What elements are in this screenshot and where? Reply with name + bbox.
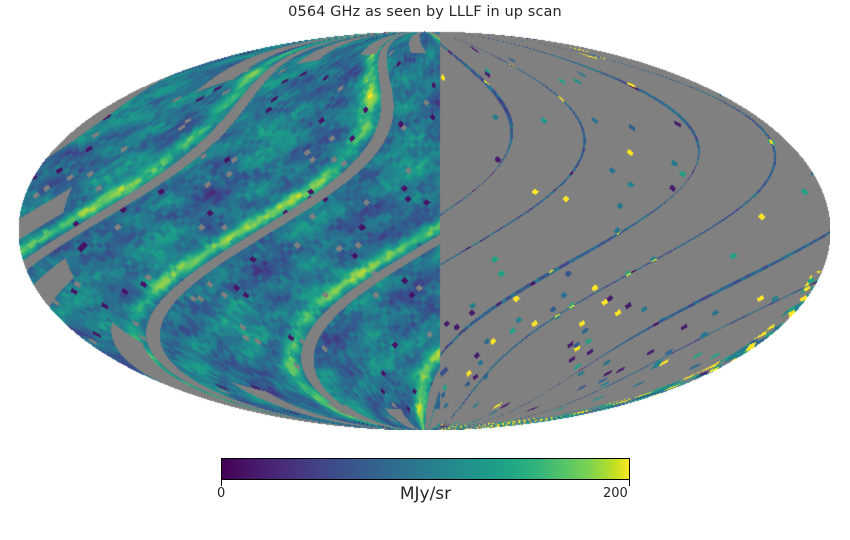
mollweide-map-canvas xyxy=(18,31,830,430)
colorbar-gradient xyxy=(221,458,630,480)
sky-map xyxy=(18,31,830,430)
figure-canvas: 0564 GHz as seen by LLLF in up scan 0 20… xyxy=(0,0,850,540)
colorbar: 0 200 MJy/sr xyxy=(221,458,630,480)
colorbar-unit-label: MJy/sr xyxy=(221,484,630,504)
page-title: 0564 GHz as seen by LLLF in up scan xyxy=(0,4,850,20)
